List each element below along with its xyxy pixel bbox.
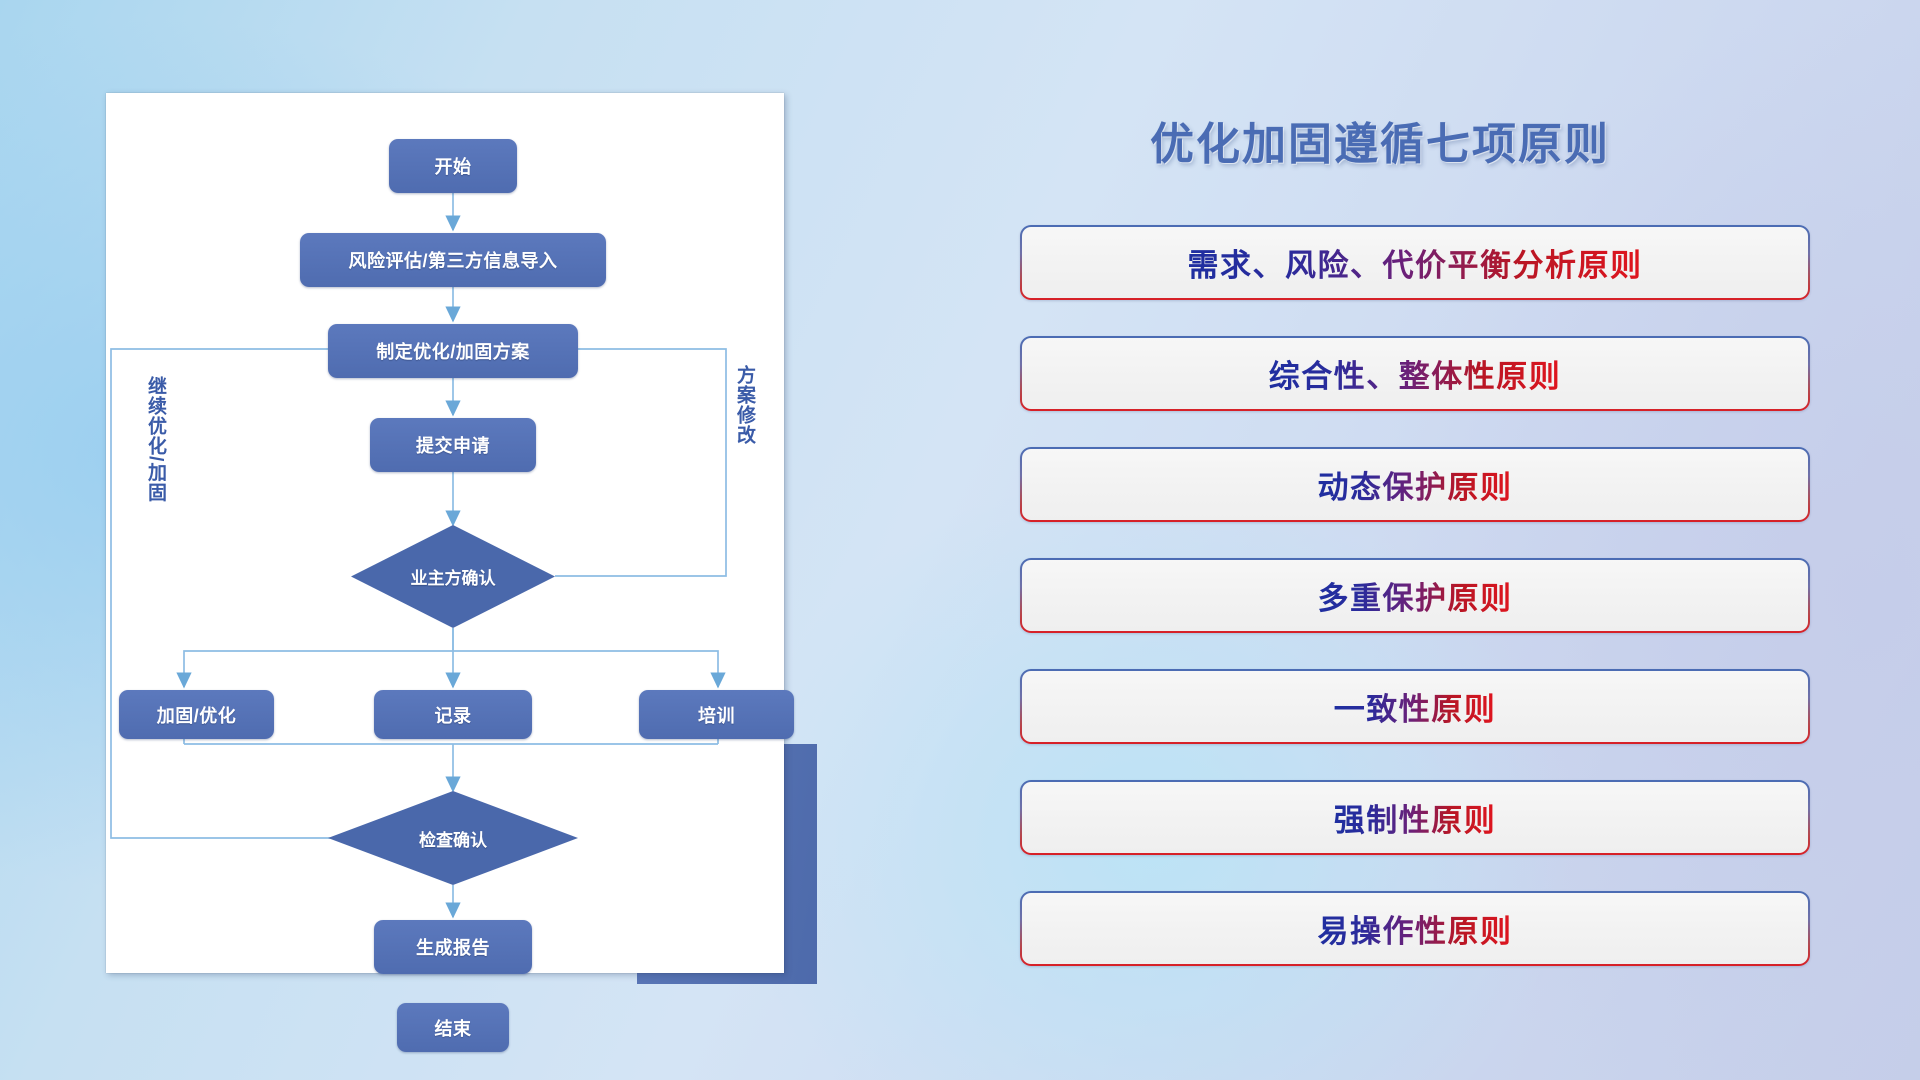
principle-item-inner: 动态保护原则: [1022, 449, 1808, 520]
flow-node-check-confirm[interactable]: 检查确认: [328, 791, 578, 885]
principle-item-inner: 强制性原则: [1022, 782, 1808, 853]
flow-node-check-confirm-label: 检查确认: [328, 791, 578, 885]
flowchart-panel: 开始 风险评估/第三方信息导入 制定优化/加固方案 提交申请 业主方确认 加固/…: [0, 0, 860, 1080]
principle-label: 易操作性原则: [1318, 906, 1513, 951]
principle-label: 多重保护原则: [1318, 573, 1513, 618]
principles-list: 需求、风险、代价平衡分析原则 综合性、整体性原则 动态保护原则 多重保护原则 一…: [1020, 225, 1810, 1002]
flow-node-submit-application[interactable]: 提交申请: [370, 418, 536, 472]
principle-item-inner: 一致性原则: [1022, 671, 1808, 742]
flow-node-owner-confirm-label: 业主方确认: [351, 525, 555, 628]
principle-item[interactable]: 动态保护原则: [1020, 447, 1810, 522]
flow-edge-label-continue-optimize: 继续优化/加固: [145, 376, 165, 502]
principle-label: 综合性、整体性原则: [1269, 351, 1562, 396]
principle-label: 一致性原则: [1334, 684, 1497, 729]
flow-node-reinforce[interactable]: 加固/优化: [119, 690, 274, 739]
principles-panel: 优化加固遵循七项原则 需求、风险、代价平衡分析原则 综合性、整体性原则 动态保护…: [1020, 0, 1920, 1080]
principle-item[interactable]: 易操作性原则: [1020, 891, 1810, 966]
flow-node-owner-confirm[interactable]: 业主方确认: [351, 525, 555, 628]
flow-node-plan[interactable]: 制定优化/加固方案: [328, 324, 578, 378]
flow-node-training[interactable]: 培训: [639, 690, 794, 739]
flow-node-start[interactable]: 开始: [389, 139, 517, 193]
principle-label: 强制性原则: [1334, 795, 1497, 840]
principle-item[interactable]: 多重保护原则: [1020, 558, 1810, 633]
principle-item-inner: 需求、风险、代价平衡分析原则: [1022, 227, 1808, 298]
principles-title: 优化加固遵循七项原则: [1150, 108, 1610, 172]
principle-item-inner: 多重保护原则: [1022, 560, 1808, 631]
flow-node-record[interactable]: 记录: [374, 690, 532, 739]
flow-node-generate-report[interactable]: 生成报告: [374, 920, 532, 974]
principle-item-inner: 易操作性原则: [1022, 893, 1808, 964]
principle-item[interactable]: 一致性原则: [1020, 669, 1810, 744]
principle-item[interactable]: 强制性原则: [1020, 780, 1810, 855]
principle-label: 动态保护原则: [1318, 462, 1513, 507]
principle-item[interactable]: 需求、风险、代价平衡分析原则: [1020, 225, 1810, 300]
flowchart-card: 开始 风险评估/第三方信息导入 制定优化/加固方案 提交申请 业主方确认 加固/…: [106, 93, 784, 973]
principle-item[interactable]: 综合性、整体性原则: [1020, 336, 1810, 411]
flow-node-end[interactable]: 结束: [397, 1003, 509, 1052]
flow-node-risk-assessment[interactable]: 风险评估/第三方信息导入: [300, 233, 606, 287]
principle-item-inner: 综合性、整体性原则: [1022, 338, 1808, 409]
flow-edge-label-plan-revision: 方案修改: [734, 365, 754, 445]
principle-label: 需求、风险、代价平衡分析原则: [1188, 240, 1643, 285]
